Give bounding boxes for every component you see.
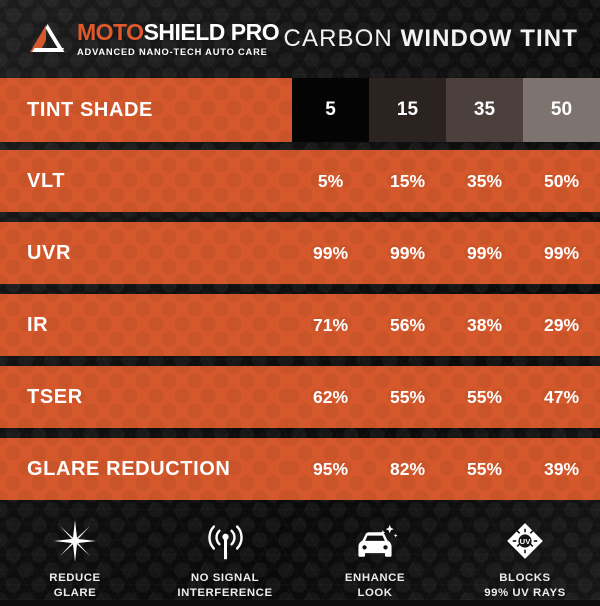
- tint-shade-column-50: 50: [523, 78, 600, 142]
- table-row: UVR 99% 99% 99% 99%: [0, 222, 600, 284]
- feature-label-line1: NO SIGNAL: [191, 572, 259, 584]
- table-cell: 35%: [446, 150, 523, 212]
- page-title: CARBON WINDOW TINT: [284, 25, 578, 53]
- brand-tagline: ADVANCED NANO-TECH AUTO CARE: [77, 48, 279, 57]
- tint-shade-column-5: 5: [292, 78, 369, 142]
- table-header-row: TINT SHADE 5 15 35 50: [0, 78, 600, 142]
- triangle-logo-icon: [26, 22, 68, 56]
- page-title-bold: WINDOW TINT: [401, 25, 578, 52]
- brand-logo: MOTO SHIELD PRO ADVANCED NANO-TECH AUTO …: [26, 21, 279, 57]
- feature-label: ENHANCE LOOK: [345, 571, 405, 601]
- brand-name-part2: SHIELD PRO: [144, 21, 280, 44]
- table-cell: 47%: [523, 366, 600, 428]
- table-cell: 95%: [292, 438, 369, 500]
- feature-no-signal-interference: NO SIGNAL INTERFERENCE: [155, 518, 295, 601]
- feature-label-line1: ENHANCE: [345, 572, 405, 584]
- row-label: GLARE REDUCTION: [0, 438, 292, 500]
- row-label: TSER: [0, 366, 292, 428]
- tint-shade-column-35: 35: [446, 78, 523, 142]
- table-cell: 39%: [523, 438, 600, 500]
- row-label: IR: [0, 294, 292, 356]
- uv-diamond-icon: UV: [504, 518, 546, 564]
- feature-label-line1: BLOCKS: [499, 572, 550, 584]
- sparkle-star-icon: [53, 518, 97, 564]
- table-cell: 55%: [446, 438, 523, 500]
- feature-bar: REDUCE GLARE NO SIGNAL: [0, 510, 600, 606]
- tint-shade-column-15: 15: [369, 78, 446, 142]
- table-cell: 56%: [369, 294, 446, 356]
- brand-logo-text: MOTO SHIELD PRO ADVANCED NANO-TECH AUTO …: [77, 21, 279, 57]
- table-cell: 99%: [446, 222, 523, 284]
- feature-label-line2: INTERFERENCE: [177, 587, 272, 599]
- feature-label-line1: REDUCE: [49, 572, 100, 584]
- tint-spec-table: TINT SHADE 5 15 35 50 VLT 5% 15% 35% 50%…: [0, 78, 600, 500]
- table-cell: 62%: [292, 366, 369, 428]
- feature-blocks-uv: UV BLOCKS 99% UV RAYS: [455, 518, 595, 601]
- header: MOTO SHIELD PRO ADVANCED NANO-TECH AUTO …: [0, 0, 600, 78]
- table-cell: 55%: [369, 366, 446, 428]
- signal-antenna-icon: [204, 518, 247, 564]
- table-cell: 38%: [446, 294, 523, 356]
- table-row: TSER 62% 55% 55% 47%: [0, 366, 600, 428]
- table-row: VLT 5% 15% 35% 50%: [0, 150, 600, 212]
- tint-spec-sheet: MOTO SHIELD PRO ADVANCED NANO-TECH AUTO …: [0, 0, 600, 600]
- table-cell: 50%: [523, 150, 600, 212]
- feature-label-line2: 99% UV RAYS: [484, 587, 566, 599]
- feature-label-line2: GLARE: [54, 587, 97, 599]
- feature-label: NO SIGNAL INTERFERENCE: [177, 571, 272, 601]
- table-cell: 71%: [292, 294, 369, 356]
- car-sparkle-icon: [350, 518, 400, 564]
- table-row: GLARE REDUCTION 95% 82% 55% 39%: [0, 438, 600, 500]
- table-cell: 55%: [446, 366, 523, 428]
- page-title-light: CARBON: [284, 25, 393, 52]
- table-cell: 29%: [523, 294, 600, 356]
- table-cell: 99%: [292, 222, 369, 284]
- table-cell: 82%: [369, 438, 446, 500]
- row-label: VLT: [0, 150, 292, 212]
- table-cell: 99%: [369, 222, 446, 284]
- feature-label: BLOCKS 99% UV RAYS: [484, 571, 566, 601]
- brand-name-part1: MOTO: [77, 21, 144, 44]
- feature-label: REDUCE GLARE: [49, 571, 100, 601]
- feature-reduce-glare: REDUCE GLARE: [5, 518, 145, 601]
- table-cell: 99%: [523, 222, 600, 284]
- table-row: IR 71% 56% 38% 29%: [0, 294, 600, 356]
- svg-text:UV: UV: [520, 537, 532, 546]
- feature-label-line2: LOOK: [357, 587, 392, 599]
- tint-shade-header-label: TINT SHADE: [0, 78, 292, 142]
- row-label: UVR: [0, 222, 292, 284]
- feature-enhance-look: ENHANCE LOOK: [305, 518, 445, 601]
- table-cell: 15%: [369, 150, 446, 212]
- table-cell: 5%: [292, 150, 369, 212]
